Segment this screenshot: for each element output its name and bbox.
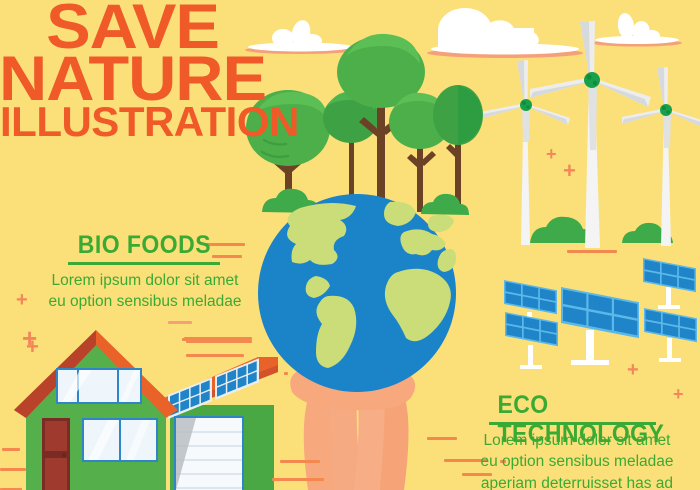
decor-dash [280, 460, 320, 463]
bush-icon [421, 194, 469, 215]
decor-dash [2, 448, 20, 451]
solar-panel-icon [644, 308, 697, 362]
decor-plus-icon: + [627, 360, 639, 380]
solar-panel-icon [505, 312, 558, 369]
section-body-bio-foods: Lorem ipsum dolor sit amet eu option sen… [30, 270, 260, 313]
decor-dash [284, 372, 288, 375]
headline-line-3: ILLUSTRATION [0, 105, 265, 139]
decor-dash [427, 437, 457, 440]
cloud-icon [592, 12, 682, 46]
section-body-line: eu option sensibus meladae [30, 291, 260, 312]
section-rule-eco-technology [489, 422, 656, 425]
bush-group [530, 217, 673, 243]
decor-dash [567, 250, 617, 253]
decor-dash [0, 468, 26, 471]
section-body-line: eu option sensibus meladae [462, 451, 692, 472]
decor-plus-icon: + [563, 160, 576, 182]
decor-dash [212, 255, 242, 258]
section-title-bio-foods: BIO FOODS [78, 231, 211, 260]
section-body-line: Lorem ipsum dolor sit amet [30, 270, 260, 291]
decor-dash [186, 354, 244, 357]
section-rule-bio-foods [68, 262, 220, 265]
decor-plus-icon: + [16, 290, 28, 310]
poster-headline: SAVE NATURE ILLUSTRATION [0, 2, 265, 140]
solar-panel-icon [643, 258, 696, 309]
section-body-line: Lorem ipsum dolor sit amet [462, 430, 692, 451]
decor-dash [186, 340, 252, 343]
decor-plus-icon: + [26, 336, 39, 358]
cloud-icon [427, 8, 583, 58]
solar-panel-icon [561, 287, 639, 365]
solar-panel-group [504, 258, 697, 369]
cloud-group [245, 8, 682, 58]
tree-icon [323, 92, 379, 210]
decor-dash [272, 478, 324, 481]
section-body-eco-technology: Lorem ipsum dolor sit amet eu option sen… [462, 430, 692, 490]
decor-dash [168, 321, 192, 324]
poster-canvas: + + + + + + + SAVE NATURE ILLUSTRATION B… [0, 0, 700, 490]
section-body-line: aperiam deterruisset has ad [462, 473, 692, 490]
decor-plus-icon: + [546, 145, 557, 163]
earth-globe [258, 194, 456, 392]
tree-icon [433, 85, 483, 212]
